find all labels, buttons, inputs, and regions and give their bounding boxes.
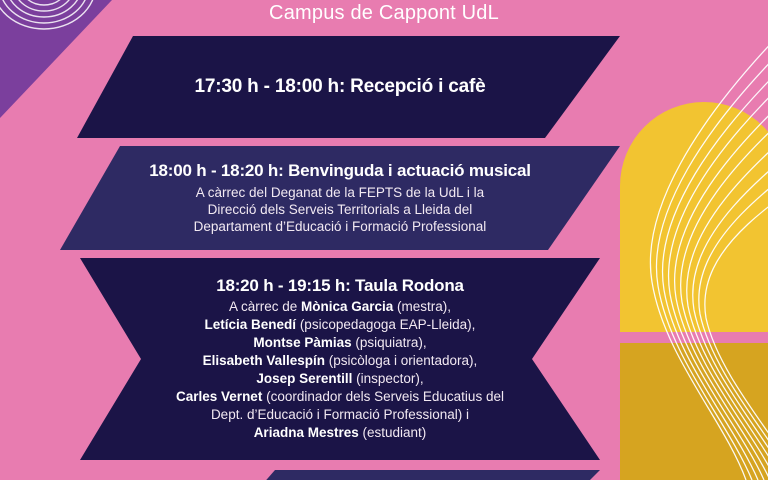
program-block-round-table: 18:20 h - 19:15 h: Taula Rodona A càrrec…: [60, 258, 620, 460]
program-block-title: 18:00 h - 18:20 h: Benvinguda i actuació…: [149, 161, 531, 181]
program-block-title: 17:30 h - 18:00 h: Recepció i cafè: [195, 76, 486, 98]
program-block-title: 18:20 h - 19:15 h: Taula Rodona: [216, 276, 464, 296]
campus-title: Campus de Cappont UdL: [0, 2, 768, 25]
program-block-lines: A càrrec de Mònica Garcia (mestra),Letíc…: [176, 298, 504, 442]
poster-canvas: Campus de Cappont UdL 17:30 h - 18:00 h:…: [0, 0, 768, 480]
program-block-lines: A càrrec del Deganat de la FEPTS de la U…: [194, 184, 487, 235]
program-block-next: [60, 470, 620, 480]
program-block-reception: 17:30 h - 18:00 h: Recepció i cafè: [60, 36, 620, 138]
program-block-welcome: 18:00 h - 18:20 h: Benvinguda i actuació…: [60, 146, 620, 250]
